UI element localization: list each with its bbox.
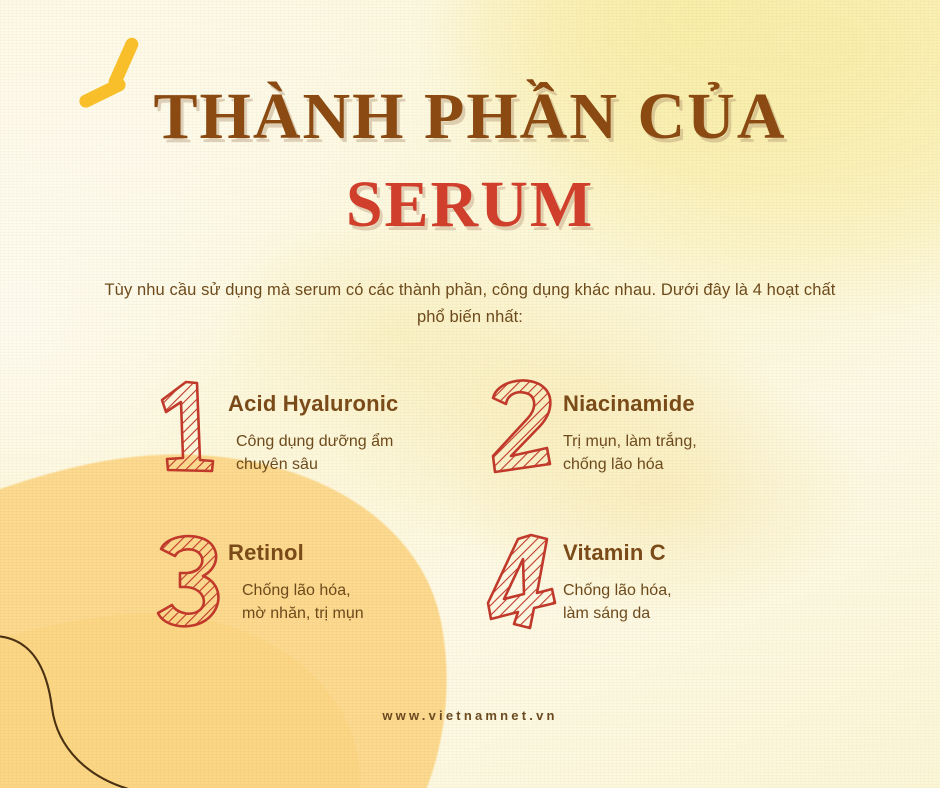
footer-website: www.vietnamnet.vn — [0, 708, 940, 723]
hand-drawn-number-3-icon — [150, 531, 228, 631]
list-item: Niacinamide Trị mụn, làm trắng, chống lã… — [485, 370, 810, 525]
list-item-description: Chống lão hóa, làm sáng da — [563, 579, 810, 625]
hand-drawn-number-2-icon — [485, 376, 563, 476]
list-item-description: Trị mụn, làm trắng, chống lão hóa — [563, 430, 810, 476]
subtitle-text: Tùy nhu cầu sử dụng mà serum có các thàn… — [92, 277, 848, 331]
list-item-title: Niacinamide — [563, 392, 810, 416]
title-line-secondary: SERUM — [0, 172, 940, 238]
list-item-body: Vitamin C Chống lão hóa, làm sáng da — [563, 525, 810, 626]
list-item-body: Retinol Chống lão hóa, mờ nhăn, trị mụn — [228, 525, 475, 626]
page-title: THÀNH PHẦN CỦA SERUM — [0, 84, 940, 238]
list-item-body: Niacinamide Trị mụn, làm trắng, chống lã… — [563, 370, 810, 477]
hand-drawn-number-4-icon — [485, 531, 563, 631]
list-item-title: Acid Hyaluronic — [228, 392, 475, 416]
infographic-poster: THÀNH PHẦN CỦA SERUM Tùy nhu cầu sử dụng… — [0, 0, 940, 788]
list-item-body: Acid Hyaluronic Công dụng dưỡng ẩm chuyê… — [228, 370, 475, 477]
list-item-title: Vitamin C — [563, 541, 810, 565]
ingredient-list: Acid Hyaluronic Công dụng dưỡng ẩm chuyê… — [150, 370, 850, 680]
list-item: Vitamin C Chống lão hóa, làm sáng da — [485, 525, 810, 680]
list-item: Acid Hyaluronic Công dụng dưỡng ẩm chuyê… — [150, 370, 475, 525]
list-item-title: Retinol — [228, 541, 475, 565]
list-item-description: Chống lão hóa, mờ nhăn, trị mụn — [242, 579, 475, 625]
hand-drawn-number-1-icon — [150, 376, 228, 476]
list-item: Retinol Chống lão hóa, mờ nhăn, trị mụn — [150, 525, 475, 680]
title-line-primary: THÀNH PHẦN CỦA — [0, 84, 940, 150]
list-item-description: Công dụng dưỡng ẩm chuyên sâu — [236, 430, 475, 476]
